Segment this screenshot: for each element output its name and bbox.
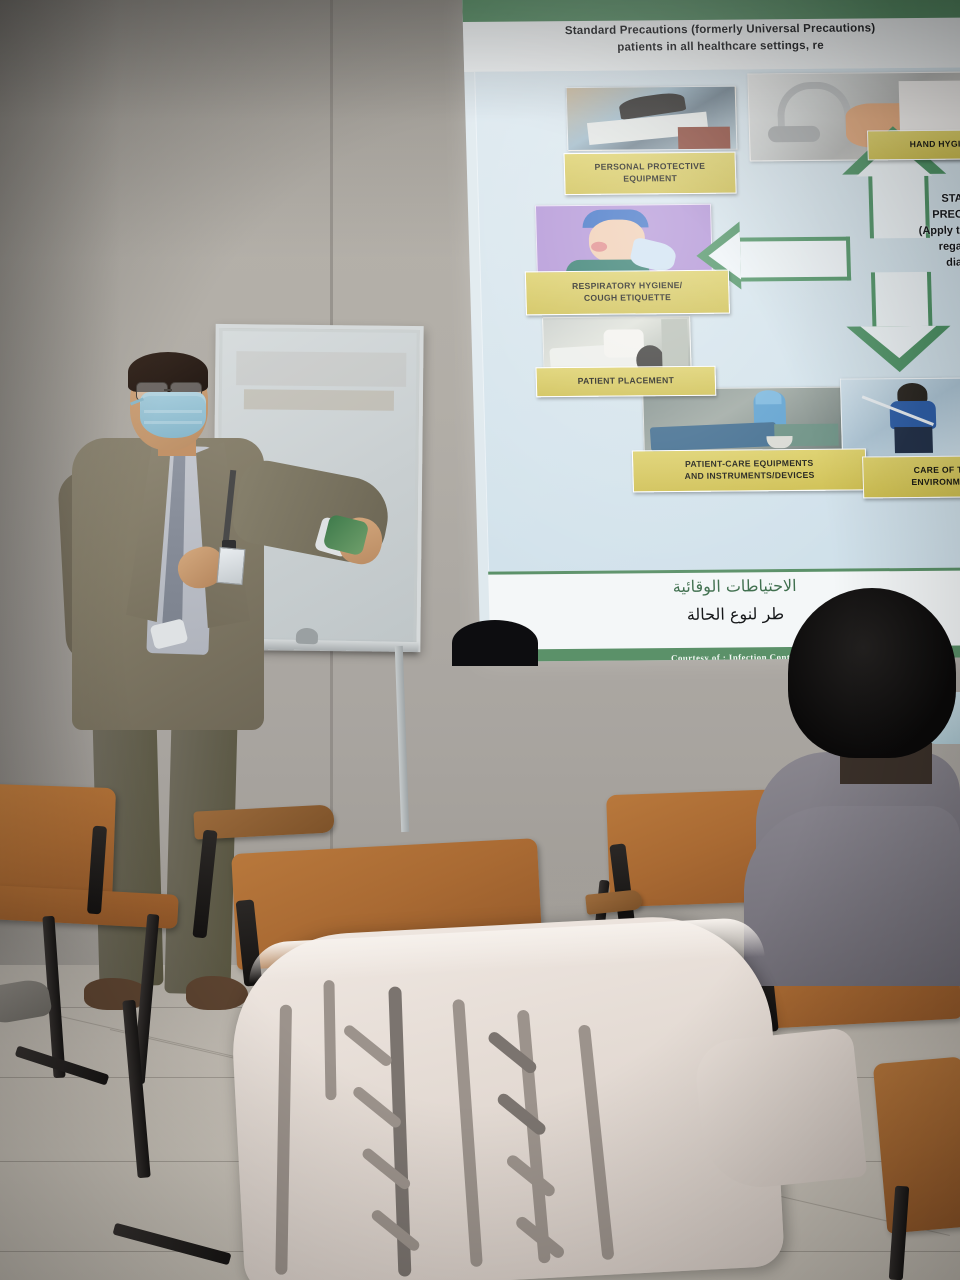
classroom-scene: Standard Precautions (formerly Universal… bbox=[0, 0, 960, 1280]
arrow-down-head-inner bbox=[860, 326, 937, 359]
label-care-of-environment: CARE OF THE ENVIRONMENT bbox=[862, 455, 960, 498]
label-ppe: PERSONAL PROTECTIVE EQUIPMENT bbox=[563, 152, 736, 195]
whiteboard-reflection-upper bbox=[236, 351, 406, 387]
environment-photo bbox=[840, 377, 960, 458]
slide-title: Standard Precautions (formerly Universal… bbox=[481, 20, 960, 59]
plastic-chair-slot-v6 bbox=[578, 1024, 615, 1260]
arrow-down bbox=[871, 272, 933, 333]
presenter-id-badge bbox=[216, 547, 245, 585]
plastic-chair-slot-v4 bbox=[452, 999, 483, 1267]
label-patient-care-equipment: PATIENT-CARE EQUIPMENTS AND INSTRUMENTS/… bbox=[632, 448, 867, 492]
presenter-shoe-right bbox=[186, 976, 248, 1010]
plastic-chair-slot-v1 bbox=[275, 1005, 292, 1275]
ppe-photo bbox=[566, 86, 738, 151]
label-patient-placement: PATIENT PLACEMENT bbox=[535, 366, 716, 398]
chair-far-right[interactable] bbox=[873, 1056, 960, 1233]
presenter-mask-pleat-2 bbox=[144, 421, 202, 424]
projected-slide: Standard Precautions (formerly Universal… bbox=[462, 0, 960, 662]
slide-body: STANDARD PRECAUTIONS (Apply to all patie… bbox=[474, 68, 960, 584]
presenter-face-mask bbox=[140, 392, 206, 438]
plastic-chair-armrest[interactable] bbox=[693, 1027, 868, 1193]
arrow-left bbox=[734, 237, 851, 282]
attendee-hair bbox=[788, 588, 956, 758]
whiteboard-eraser bbox=[296, 628, 319, 645]
whiteboard-reflection bbox=[244, 389, 394, 411]
patient-care-equipment-photo bbox=[642, 387, 846, 455]
presenter-glasses-bridge bbox=[164, 389, 172, 391]
label-hand-hygiene: HAND HYGIENE bbox=[867, 129, 960, 160]
label-respiratory-hygiene: RESPIRATORY HYGIENE/ COUGH ETIQUETTE bbox=[525, 270, 730, 316]
plastic-chair-slot-d1 bbox=[342, 1023, 394, 1068]
standard-precautions-center-text: STANDARD PRECAUTIONS (Apply to all patie… bbox=[877, 191, 960, 272]
plastic-chair-slot-v2 bbox=[323, 980, 336, 1100]
foreground-head-silhouette bbox=[452, 620, 538, 666]
presenter-mask-pleat bbox=[144, 410, 202, 413]
attendee-shoulder bbox=[744, 806, 960, 986]
plastic-chair-slot-d6 bbox=[495, 1091, 548, 1137]
